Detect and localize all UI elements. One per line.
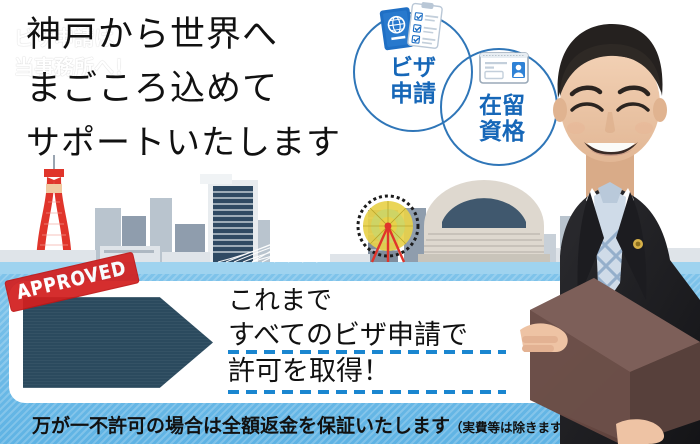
guarantee-main-text: 万が一不許可の場合は全額返金を保証いたします	[32, 415, 450, 437]
promo-banner: 神戸から世界へ まごころ込めて サポートいたします ビザ 申請 在留 資格	[0, 0, 700, 444]
arrow-callout	[23, 291, 213, 394]
guarantee-footer-text: 万が一不許可の場合は全額返金を保証いたします（実費等は除きます）	[0, 411, 575, 438]
tower-building	[200, 174, 258, 262]
message-block: これまで すべてのビザ申請で 許可を取得！	[228, 283, 558, 391]
dashed-underline-2	[228, 390, 506, 394]
headline-line-1: 神戸から世界へ	[26, 8, 426, 62]
headline-line-3: サポートいたします	[26, 116, 426, 170]
message-line-2: すべてのビザ申請で	[228, 319, 558, 353]
message-line-3: 許可を取得！	[228, 353, 558, 391]
arrow-shape	[23, 291, 213, 394]
message-line-3-text: 許可を取得！	[228, 356, 390, 387]
port-tower-icon	[32, 155, 76, 262]
headline: 神戸から世界へ まごころ込めて サポートいたします	[26, 8, 426, 170]
message-line-1: これまで	[228, 283, 558, 319]
message-line-2-text: すべてのビザ申請で	[228, 320, 468, 351]
staff-photo	[520, 0, 700, 444]
headline-line-2: まごころ込めて	[26, 62, 426, 116]
